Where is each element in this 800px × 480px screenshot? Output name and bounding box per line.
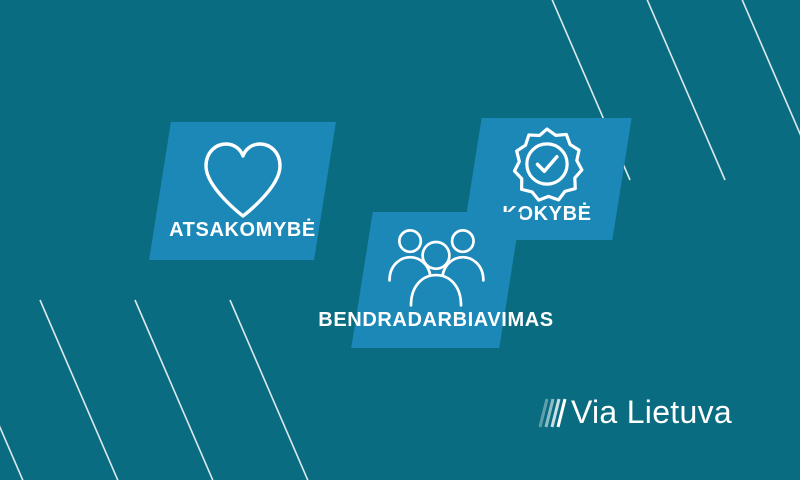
- brand-logo: Via Lietuva: [537, 396, 732, 428]
- quality-seal-check-icon: [509, 126, 585, 202]
- value-card-collaboration: BENDRADARBIAVIMAS: [362, 212, 510, 348]
- people-group-icon: [382, 225, 490, 309]
- card-icon-wrapper: [362, 224, 510, 310]
- brand-name: Via Lietuva: [571, 396, 732, 428]
- value-label-responsibility: ATSAKOMYBĖ: [169, 219, 316, 242]
- heart-icon: [200, 140, 286, 220]
- slide-canvas: ATSAKOMYBĖ KOKYBĖ: [0, 0, 800, 480]
- slashes-mark-icon: [537, 396, 567, 428]
- card-icon-wrapper: [160, 138, 325, 222]
- value-card-responsibility: ATSAKOMYBĖ: [160, 122, 325, 260]
- diagonal-lines-icon: [0, 240, 320, 480]
- value-label-collaboration: BENDRADARBIAVIMAS: [318, 309, 553, 332]
- card-icon-wrapper: [472, 126, 622, 202]
